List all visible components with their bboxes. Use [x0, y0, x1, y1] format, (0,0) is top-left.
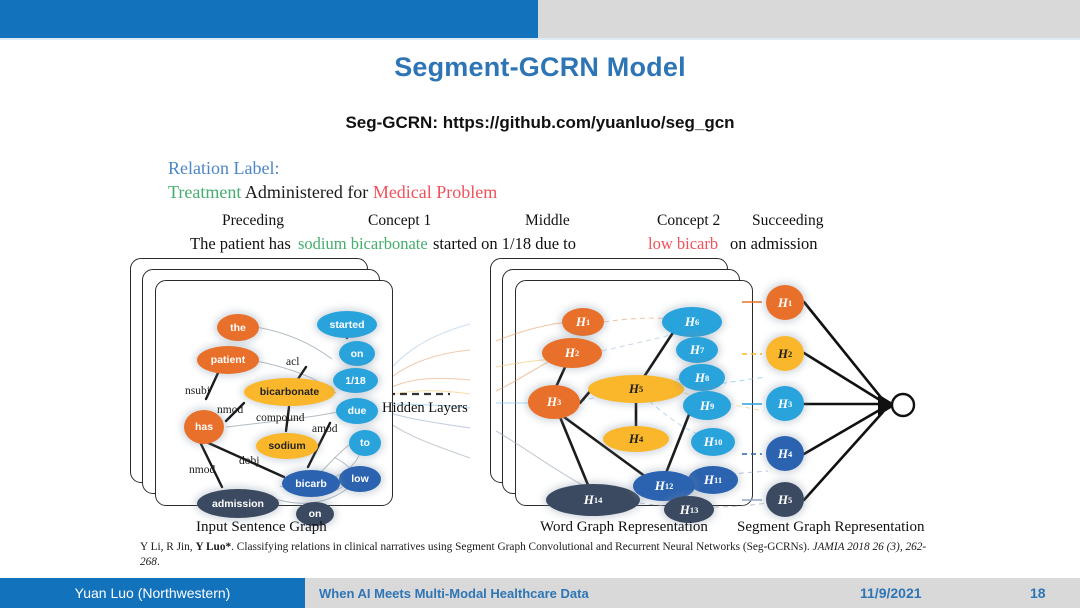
- top-bar-underline: [0, 38, 1080, 40]
- node-h10: H10: [691, 428, 735, 456]
- node-date: 1/18: [333, 368, 378, 393]
- top-decorative-bar: [0, 0, 1080, 40]
- node-h9: H9: [683, 391, 731, 420]
- node-bicarb: bicarb: [282, 470, 340, 497]
- edge-label-acl: acl: [286, 356, 299, 368]
- panel-caption-1: Input Sentence Graph: [196, 519, 327, 536]
- node-on-first: on: [339, 341, 375, 366]
- sentence-piece-5: on admission: [730, 234, 818, 254]
- node-h3: H3: [528, 385, 580, 419]
- node-h1: H1: [562, 308, 604, 336]
- node-patient: patient: [197, 346, 259, 374]
- footer-author-name: Yuan Luo (Northwestern): [75, 585, 231, 601]
- node-h4: H4: [603, 426, 669, 452]
- footer-subject: When AI Meets Multi-Modal Healthcare Dat…: [319, 578, 589, 608]
- hidden-layers-label: Hidden Layers: [382, 400, 468, 417]
- slide-footer: Yuan Luo (Northwestern) When AI Meets Mu…: [0, 578, 1080, 608]
- segment-role-1: Preceding: [222, 212, 284, 230]
- segment-gcrn-diagram: the patient has bicarbonate sodium admis…: [0, 258, 1080, 528]
- edge-label-amod: amod: [312, 423, 338, 435]
- citation-tail: .: [157, 556, 160, 568]
- footer-date: 11/9/2021: [860, 578, 922, 608]
- node-h6: H6: [662, 307, 722, 337]
- node-sodium: sodium: [256, 433, 318, 459]
- node-admission: admission: [197, 489, 279, 518]
- panel-caption-3: Segment Graph Representation: [737, 519, 924, 536]
- edge-label-nmod-2: nmod: [189, 464, 215, 476]
- segment-role-2: Concept 1: [368, 212, 431, 230]
- node-h11: H11: [688, 466, 738, 494]
- relation-label-value: Treatment Administered for Medical Probl…: [168, 180, 497, 204]
- segment-role-3: Middle: [525, 212, 570, 230]
- example-sentence: The patient hassodium bicarbonatestarted…: [130, 234, 990, 258]
- segment-role-labels: PrecedingConcept 1MiddleConcept 2Succeed…: [130, 212, 990, 234]
- node-seg-h1: H1: [766, 285, 804, 320]
- relation-middle-text: Administered for: [241, 182, 372, 202]
- repository-link-text: Seg-GCRN: https://github.com/yuanluo/seg…: [0, 113, 1080, 133]
- relation-problem-text: Medical Problem: [373, 182, 497, 202]
- card-front: the patient has bicarbonate sodium admis…: [155, 280, 393, 506]
- node-seg-h2: H2: [766, 336, 804, 371]
- node-the: the: [217, 314, 259, 341]
- node-seg-h3: H3: [766, 386, 804, 421]
- node-h5: H5: [588, 375, 684, 403]
- panel-caption-2: Word Graph Representation: [540, 519, 708, 536]
- relation-label-heading: Relation Label:: [168, 156, 497, 180]
- slide-title: Segment-GCRN Model: [0, 52, 1080, 83]
- node-bicarbonate: bicarbonate: [244, 378, 335, 406]
- sentence-piece-4: low bicarb: [648, 234, 718, 254]
- relation-label-block: Relation Label: Treatment Administered f…: [168, 156, 497, 205]
- word-graph-panel: H1 H2 H3 H5 H4 H14 H6 H7 H8 H9 H10 H11 H…: [490, 258, 750, 513]
- node-h8: H8: [679, 364, 725, 391]
- node-seg-h4: H4: [766, 436, 804, 471]
- node-low: low: [339, 466, 381, 492]
- edge-label-compound: compound: [256, 412, 305, 424]
- card-front: H1 H2 H3 H5 H4 H14 H6 H7 H8 H9 H10 H11 H…: [515, 280, 753, 506]
- citation-rest: . Classifying relations in clinical narr…: [231, 541, 812, 553]
- segment-role-5: Succeeding: [752, 212, 823, 230]
- sentence-piece-3: started on 1/18 due to: [433, 234, 576, 254]
- footer-page-number: 18: [1030, 578, 1046, 608]
- segment-graph-panel: H1 H2 H3 H4 H5 Relation Class: [766, 258, 966, 518]
- citation-authors: Y Li, R Jin,: [140, 541, 195, 553]
- sentence-piece-2: sodium bicarbonate: [298, 234, 428, 254]
- top-bar-blue-block: [0, 0, 538, 38]
- node-h7: H7: [676, 337, 718, 363]
- edge-label-nsubj: nsubj: [185, 385, 210, 397]
- node-started: started: [317, 311, 377, 338]
- node-to: to: [349, 430, 381, 456]
- node-h14: H14: [546, 484, 640, 516]
- relation-treatment-text: Treatment: [168, 182, 241, 202]
- footer-author-box: Yuan Luo (Northwestern): [0, 578, 305, 608]
- citation-author-bold: Y Luo*: [195, 541, 231, 553]
- relation-class-node: [892, 394, 914, 416]
- edge-label-dobj: dobj: [239, 455, 259, 467]
- segment-role-4: Concept 2: [657, 212, 720, 230]
- node-due: due: [336, 398, 378, 424]
- edge-label-nmod-1: nmod: [217, 404, 243, 416]
- node-seg-h5: H5: [766, 482, 804, 517]
- sentence-piece-1: The patient has: [190, 234, 291, 254]
- citation-text: Y Li, R Jin, Y Luo*. Classifying relatio…: [140, 540, 930, 570]
- node-h2: H2: [542, 338, 602, 368]
- top-bar-gray-block: [538, 0, 1080, 38]
- input-sentence-graph-panel: the patient has bicarbonate sodium admis…: [130, 258, 400, 513]
